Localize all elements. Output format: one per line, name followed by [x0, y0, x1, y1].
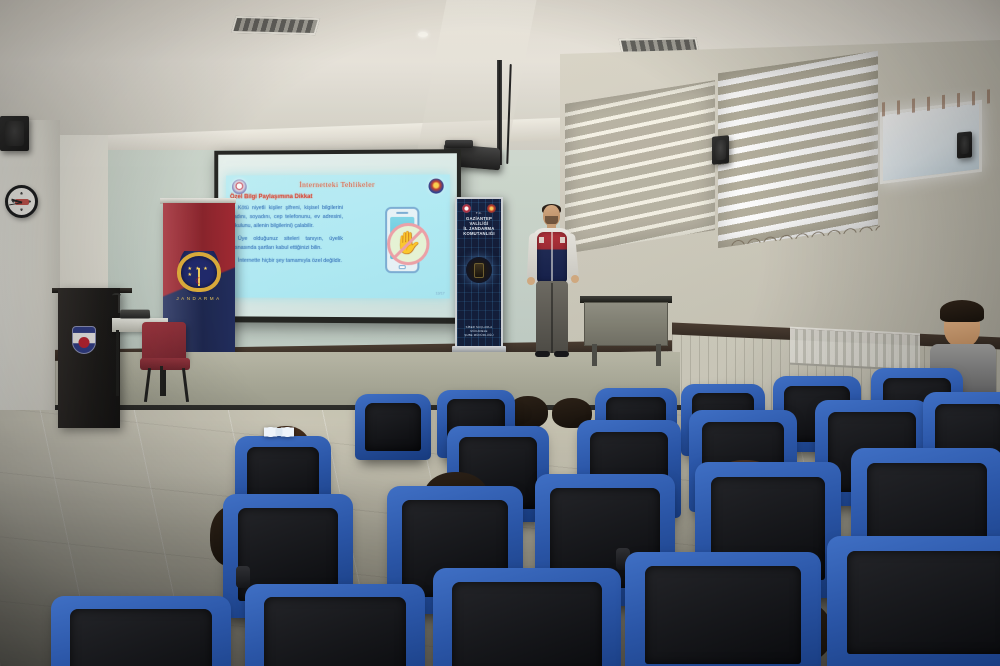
banner-footer-line-1: SİBER SUÇLARLA MÜCADELE	[457, 325, 501, 333]
presentation-slide: İnternetteki Tehlikeler Özel Bilgi Payla…	[226, 174, 450, 298]
seat-row4-3[interactable]	[630, 556, 816, 666]
slide-bullet-3: İnternette hiçbir şey tamamıyla özel değ…	[232, 257, 343, 266]
presenter-shoe-right	[554, 351, 569, 357]
ceiling-vent-left	[231, 16, 320, 35]
rollup-banner: T.C. GAZİANTEP VALİLİĞİ İL JANDARMA KOMU…	[455, 197, 503, 349]
banner-heading: T.C. GAZİANTEP VALİLİĞİ İL JANDARMA KOMU…	[457, 211, 501, 236]
seat-row4-1[interactable]	[250, 588, 420, 666]
red-chair-leg-3	[160, 366, 163, 396]
window-center-blinds	[718, 51, 878, 248]
presenter-leg-separation	[551, 283, 553, 353]
seat-cushion	[847, 551, 1000, 654]
blinds-center[interactable]	[718, 51, 878, 248]
seat-armrest-left	[236, 566, 250, 588]
slide-bullet-1: Kötü niyetli kişiler şifreni, kişisel bi…	[232, 204, 343, 231]
phone-home-button	[399, 265, 406, 269]
banner-footer-line-2: ŞUBE MÜDÜRLÜĞÜ	[457, 333, 501, 337]
red-chair-back[interactable]	[142, 322, 186, 362]
student-right-profile-hair	[940, 300, 984, 322]
stage-table-leg-right	[656, 344, 661, 366]
seat-cushion	[264, 597, 407, 666]
stage-table-leg-left	[592, 344, 597, 366]
crest-crescent-icon: ☾	[195, 276, 203, 287]
white-hair-bow	[264, 424, 294, 440]
presenter-shoe-left	[535, 351, 550, 357]
seat-cushion	[645, 566, 801, 664]
crest-label: JANDARMA	[176, 296, 221, 301]
speaker-left-wall	[0, 116, 29, 151]
slide-heading: Özel Bilgi Paylaşımına Dikkat	[230, 194, 312, 200]
banner-line-2: İL JANDARMA KOMUTANLIĞI	[457, 226, 501, 236]
side-table-leg-left	[116, 330, 119, 396]
wall-clock	[5, 185, 38, 218]
banner-line-1: GAZİANTEP VALİLİĞİ	[457, 216, 501, 226]
seat-row4-0[interactable]	[56, 600, 226, 666]
smartphone-stop-hand-icon: ✋	[379, 207, 425, 273]
phone-speaker-notch	[396, 211, 408, 214]
lectern	[58, 288, 120, 428]
auditorium-scene: İnternetteki Tehlikeler Özel Bilgi Payla…	[0, 0, 1000, 666]
speaker-far-right-wall	[957, 131, 972, 158]
banner-footer: SİBER SUÇLARLA MÜCADELE ŞUBE MÜDÜRLÜĞÜ	[457, 325, 501, 337]
seat-cushion	[70, 609, 213, 666]
projection-screen: İnternetteki Tehlikeler Özel Bilgi Payla…	[214, 149, 461, 324]
presenter-laptop[interactable]	[120, 310, 151, 319]
slide-body: Kötü niyetli kişiler şifreni, kişisel bi…	[232, 204, 343, 270]
seat-row4-2[interactable]	[438, 572, 616, 666]
flag-crest: ★ ★ ★ ★ ☾ JANDARMA	[176, 251, 222, 299]
presenter-hand-right	[571, 275, 579, 283]
stop-prohibition-icon: ✋	[387, 223, 429, 265]
speaker-right-wall	[712, 135, 729, 164]
presenter-vest-patch-left	[539, 237, 544, 243]
presenter-vest-zip	[551, 232, 553, 282]
wall-radiator	[790, 327, 920, 372]
seat-row4-4[interactable]	[832, 540, 1000, 666]
presenter-vest-patch-right	[560, 237, 565, 243]
seat-cushion	[452, 582, 602, 666]
slide-bullet-2: Üye olduğunuz siteleri tanıyın, üyelik e…	[232, 235, 343, 253]
ceiling-downlight	[418, 32, 428, 37]
blinds-left[interactable]	[565, 80, 715, 254]
presenter-hand-left	[527, 277, 535, 285]
seat-row1-1[interactable]	[360, 398, 426, 460]
presenter	[525, 205, 579, 357]
screen-surface: İnternetteki Tehlikeler Özel Bilgi Payla…	[218, 153, 457, 317]
seat-cushion	[365, 403, 420, 451]
projector-lens-housing	[445, 140, 473, 148]
window-left-blinds	[565, 80, 715, 254]
slide-page-number: 13/17	[436, 291, 445, 295]
school-emblem	[72, 326, 96, 354]
stage-table	[584, 302, 668, 346]
slide-title: İnternetteki Tehlikeler	[226, 180, 450, 190]
padlock-circuit-icon	[466, 257, 492, 283]
